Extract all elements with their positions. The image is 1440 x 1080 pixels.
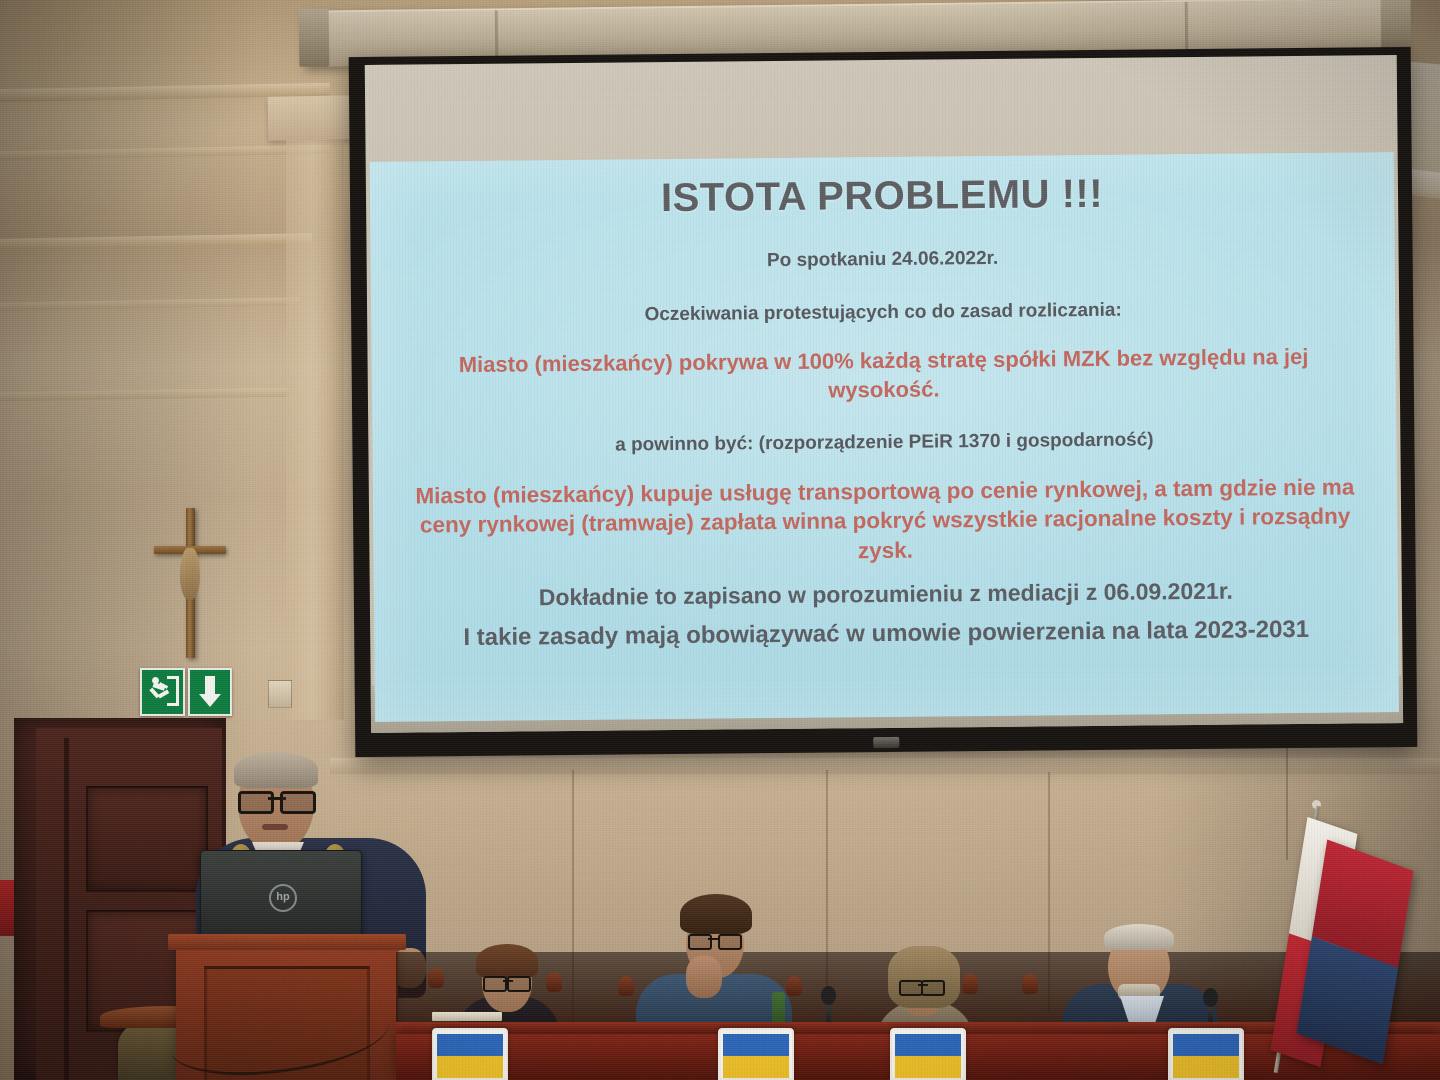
speaker-glasses-icon (238, 791, 316, 809)
flag-yellow-stripe (1173, 1056, 1239, 1078)
glasses-left-lens (688, 934, 712, 950)
flag-yellow-stripe (723, 1056, 789, 1078)
flag-blue-stripe (437, 1034, 503, 1056)
glasses-left-lens (238, 791, 274, 814)
chair-finial (962, 974, 978, 994)
slide-lead-in: Oczekiwania protestujących co do zasad r… (407, 295, 1359, 331)
panelist-man-1 (1062, 922, 1218, 1034)
flag-blue-stripe (723, 1034, 789, 1056)
panelist-hand-at-mouth (686, 956, 722, 998)
ukraine-flag-card (718, 1028, 794, 1080)
ukraine-flag-card (432, 1028, 508, 1080)
screen-mount-bracket (299, 8, 330, 66)
slide-note-two: I takie zasady mają obowiązywać w umowie… (410, 613, 1362, 655)
flag-blue-stripe (895, 1034, 961, 1056)
panelist-woman-2 (636, 894, 792, 1034)
chair-finial (786, 976, 802, 996)
microphone-head (1203, 988, 1218, 1007)
speaker-hair (234, 752, 318, 788)
glasses-left-lens (483, 976, 507, 992)
arrow-down-shaft (205, 676, 215, 696)
glasses-right-lens (718, 934, 742, 950)
screen-pull-handle[interactable] (873, 737, 899, 748)
presentation-room-photo: ISTOTA PROBLEMU !!! Po spotkaniu 24.06.2… (0, 0, 1440, 1080)
ukraine-flag-card (1168, 1028, 1244, 1080)
hp-laptop[interactable]: hp (200, 850, 362, 942)
down-arrow-exit-icon (188, 668, 233, 716)
projector-screen: ISTOTA PROBLEMU !!! Po spotkaniu 24.06.2… (349, 47, 1418, 757)
chair-finial (1022, 974, 1038, 994)
panelist-glasses-icon (899, 980, 945, 992)
flag-yellow-stripe (895, 1056, 961, 1078)
chair-finial (546, 972, 562, 992)
glasses-right-lens (921, 980, 945, 996)
slide-subtitle: Po spotkaniu 24.06.2022r. (407, 242, 1359, 278)
flag-yellow-stripe (437, 1056, 503, 1078)
panelist-hair (680, 894, 752, 934)
slide-claim-text: Miasto (mieszkańcy) pokrywa w 100% każdą… (407, 342, 1360, 408)
panelist-hair (476, 944, 538, 978)
panelist-hair (888, 946, 960, 1008)
chair-finial (428, 968, 444, 988)
crucifix-figure (180, 548, 200, 600)
arrow-down-head (199, 694, 221, 707)
projected-slide: ISTOTA PROBLEMU !!! Po spotkaniu 24.06.2… (370, 152, 1399, 722)
slide-counter-claim-text: Miasto (mieszkańcy) kupuje usługę transp… (409, 473, 1362, 570)
glasses-right-lens (507, 976, 531, 992)
glasses-right-lens (280, 791, 316, 814)
emergency-exit-signs (140, 668, 232, 712)
panelist-glasses-icon (688, 934, 742, 946)
housing-seam (1185, 2, 1189, 56)
running-man-exit-icon (140, 668, 185, 716)
door-panel (86, 786, 208, 892)
slide-note-one: Dokładnie to zapisano w porozumieniu z m… (410, 574, 1362, 614)
glasses-bridge (708, 938, 718, 940)
crucifix (152, 508, 228, 658)
microphone-head (821, 986, 836, 1005)
light-switch[interactable] (268, 680, 292, 708)
water-bottle (772, 992, 785, 1026)
speaker-mouth (262, 824, 288, 830)
documents-on-table (432, 1012, 502, 1021)
glasses-left-lens (899, 980, 923, 996)
podium-top-ledge (168, 934, 406, 950)
hp-logo-icon: hp (269, 884, 297, 912)
door-stile (64, 738, 69, 1080)
chair-finial (618, 976, 634, 996)
screen-mount-bracket (1381, 0, 1412, 54)
slide-counter-intro: a powinno być: (rozporządzenie PEiR 1370… (408, 426, 1360, 462)
ukraine-flag-card (890, 1028, 966, 1080)
panelist-glasses-icon (483, 976, 531, 988)
flag-blue-stripe (1173, 1034, 1239, 1056)
panelist-hair (1104, 924, 1174, 950)
slide-title: ISTOTA PROBLEMU !!! (406, 170, 1358, 221)
